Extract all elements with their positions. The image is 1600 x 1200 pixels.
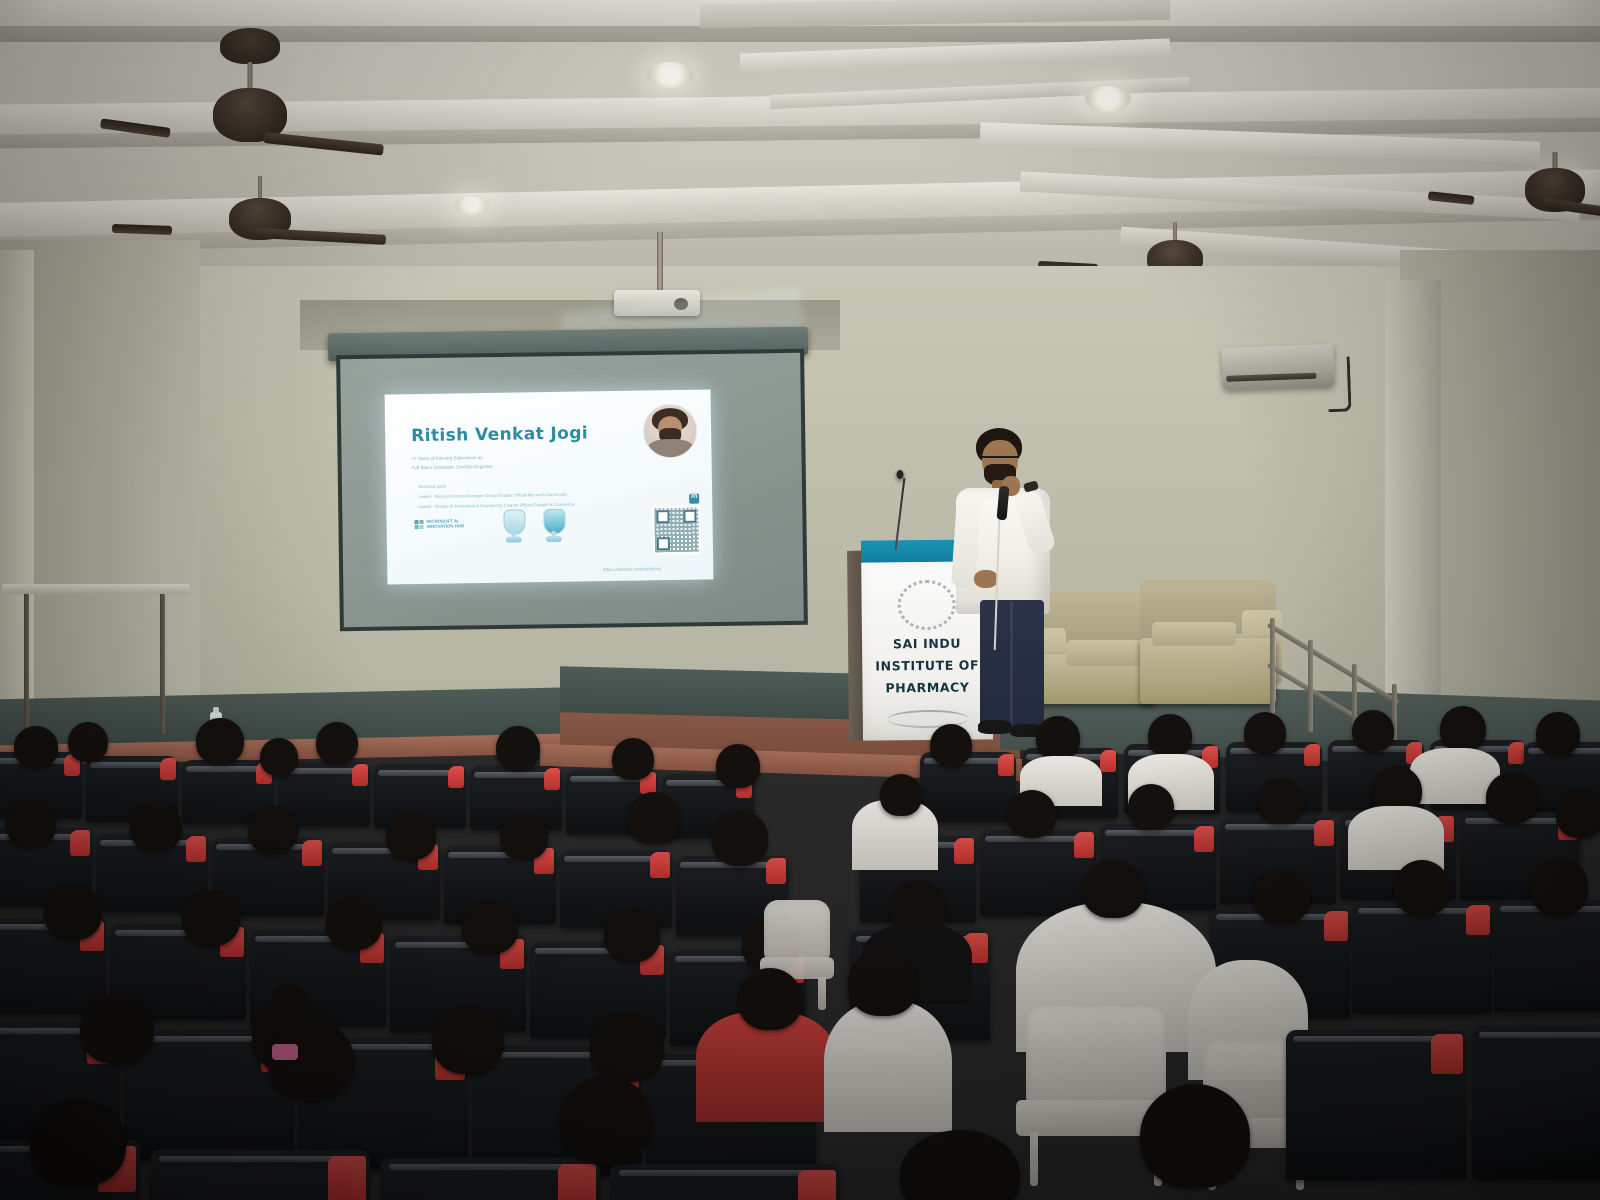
award-badge-icon-2 — [538, 506, 569, 546]
audience-head — [1352, 710, 1394, 752]
audience-head — [1536, 712, 1580, 756]
slide-subtitle-line-2: Full Stack Developer, DevOps Engineer — [412, 464, 493, 470]
audience-head — [1556, 790, 1600, 838]
microsoft-squares-icon — [415, 520, 424, 529]
downlight-3 — [455, 196, 489, 215]
seat[interactable] — [1286, 1030, 1466, 1180]
audience-head — [182, 890, 240, 946]
seat[interactable] — [1352, 902, 1492, 1014]
downlight-2 — [1085, 86, 1131, 112]
audience-head — [14, 726, 58, 768]
audience-head — [196, 718, 244, 764]
audience-head — [1148, 714, 1192, 758]
seat[interactable] — [920, 752, 1016, 822]
audience-head — [1082, 860, 1144, 918]
audience-head — [248, 806, 298, 854]
seat[interactable] — [610, 1164, 840, 1200]
audience-head — [880, 774, 922, 816]
audience-head — [1486, 772, 1538, 824]
speaker-headshot — [643, 404, 698, 459]
seat[interactable] — [1494, 900, 1600, 1012]
audience-head — [6, 800, 56, 848]
audience-head — [30, 1100, 126, 1186]
audience-head — [1128, 784, 1174, 830]
award-badge-icon-1 — [498, 506, 529, 546]
audience-head — [848, 950, 918, 1016]
audience-head — [1394, 860, 1450, 916]
audience-head — [1440, 706, 1486, 752]
audience-head — [44, 884, 102, 940]
audience-head — [68, 722, 108, 762]
downlight-1 — [647, 62, 693, 88]
audience-head — [1254, 868, 1310, 924]
audience-head — [930, 724, 972, 766]
audience-head — [604, 908, 660, 962]
slide-title: Ritish Venkat Jogi — [411, 423, 588, 446]
microsoft-ai-logo: MICROSOFT AI INNOVATION HUB — [415, 519, 465, 529]
audience-head — [500, 814, 548, 860]
audience-head — [432, 1006, 504, 1074]
audience-head — [590, 1012, 664, 1082]
ceiling-fan-1 — [160, 28, 340, 148]
attendee-white-shirt — [824, 1000, 952, 1132]
audience-head — [1530, 858, 1588, 916]
hair-clip — [272, 1044, 298, 1060]
audience-head — [900, 1130, 1020, 1200]
podium-microphone-stand — [888, 468, 912, 548]
audience-head — [326, 896, 382, 950]
stair-railing — [1264, 566, 1414, 746]
audience-head — [712, 810, 768, 866]
audience-head — [1008, 790, 1056, 838]
logo-text-line-2: INNOVATION HUB — [427, 524, 465, 529]
audience-head — [560, 1076, 652, 1164]
seat[interactable] — [1472, 1026, 1600, 1180]
sofa-2 — [1140, 580, 1276, 704]
audience-head — [386, 812, 436, 860]
air-conditioner — [1221, 344, 1334, 390]
seat[interactable] — [150, 1150, 370, 1200]
audience-head — [612, 738, 654, 780]
audience-head — [260, 738, 298, 776]
audience-head — [716, 744, 760, 788]
seat[interactable] — [380, 1158, 600, 1200]
qr-code[interactable] — [652, 506, 701, 555]
audience-head — [316, 722, 358, 764]
stage-table — [2, 584, 190, 734]
seat[interactable] — [980, 830, 1096, 916]
audience-head — [1036, 716, 1080, 760]
slide-url[interactable]: https://linkedin.com/in/ritishvj — [603, 566, 662, 572]
linkedin-icon — [689, 494, 699, 504]
auditorium-photo: Ritish Venkat Jogi 7+ Years of Industry … — [0, 0, 1600, 1200]
audience-head — [268, 1020, 354, 1100]
audience-head — [738, 968, 802, 1030]
presentation-slide: Ritish Venkat Jogi 7+ Years of Industry … — [385, 389, 714, 584]
ceiling-fan-4 — [1470, 152, 1600, 252]
slide-subtitle-line-1: 7+ Years of Industry Experience as — [411, 455, 482, 461]
ceiling-projector — [600, 232, 720, 328]
audience-head — [1258, 778, 1304, 824]
audience-head — [130, 802, 182, 852]
audience-head — [462, 900, 518, 954]
audience-head — [1140, 1084, 1250, 1188]
audience-head — [80, 994, 154, 1064]
audience-head — [1244, 712, 1286, 754]
audience-head — [496, 726, 540, 770]
audience-head — [628, 792, 680, 844]
speaker-person — [940, 424, 1080, 744]
